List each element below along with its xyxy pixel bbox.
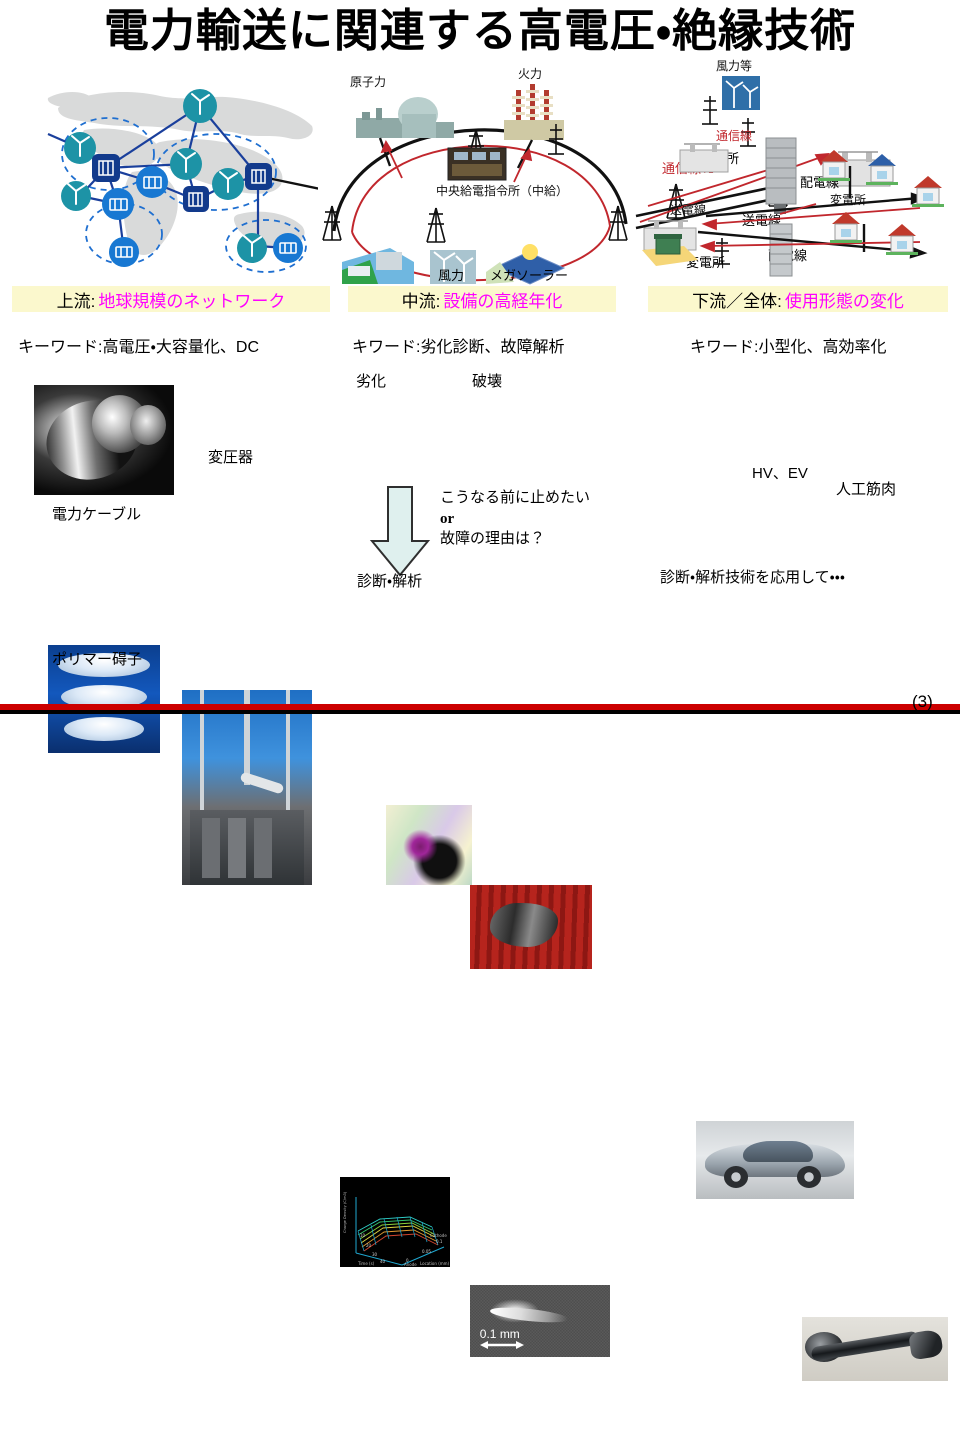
caption-diagnosis-analysis: 診断・解析 (357, 570, 422, 591)
label-mega-solar: メガソーラー (490, 265, 568, 284)
chart-charge-density-3d: 10 20 30 40 0 0.05 0.1 Anode Cathode Tim… (340, 1177, 450, 1267)
label-thermal: 火力 (518, 67, 542, 81)
photo-robotic-arm (802, 1317, 948, 1381)
footer-rule-black (0, 710, 960, 714)
photo-breakdown (470, 885, 592, 969)
label-wind: 風力 (438, 265, 464, 284)
keywords-midstream: キワード:劣化診断、故障解析 (352, 333, 564, 357)
caption-polymer-insulator: ポリマー碍子 (52, 648, 142, 669)
band-accent-downstream: 使用形態の変化 (785, 287, 904, 312)
keywords-upstream: キーワード:高電圧・大容量化、DC (18, 333, 259, 357)
slide-root: 電力輸送に関連する高電圧・絶縁技術 (0, 0, 960, 720)
band-accent-midstream: 設備の高経年化 (443, 287, 562, 312)
caption-degradation: 劣化 (356, 370, 386, 391)
distribution-network (620, 120, 960, 280)
caption-artificial-muscle: 人工筋肉 (836, 478, 896, 499)
keywords-downstream: キワード:小型化、高効率化 (690, 333, 886, 357)
svg-text:20: 20 (366, 1243, 372, 1248)
page-title: 電力輸送に関連する高電圧・絶縁技術 (0, 6, 960, 56)
down-arrow-icon (368, 485, 432, 577)
caption-hv-ev: HV、EV (752, 462, 808, 483)
svg-text:30: 30 (372, 1252, 378, 1257)
section-band-midstream: 中流: 設備の高経年化 (348, 286, 616, 312)
svg-text:0.1: 0.1 (436, 1239, 443, 1244)
band-prefix-downstream: 下流／全体: (692, 287, 782, 312)
photo-hybrid-electric-vehicle (696, 1121, 854, 1199)
photo-transformer (182, 690, 312, 885)
note-line-1: こうなる前に止めたい (440, 488, 590, 509)
band-accent-upstream: 地球規模のネットワーク (98, 287, 285, 312)
caption-transformer: 変圧器 (208, 446, 253, 467)
svg-text:10: 10 (360, 1233, 366, 1238)
svg-text:Charge Density (C/m3): Charge Density (C/m3) (343, 1191, 347, 1233)
svg-text:Cathode: Cathode (430, 1233, 447, 1238)
application-note-downstream: 診断・解析技術を応用して・・・ (660, 566, 845, 587)
page-number: (3) (912, 692, 933, 712)
note-line-2: or (440, 509, 590, 530)
label-wind-etc: 風力等 (716, 59, 752, 73)
svg-text:40: 40 (380, 1259, 386, 1264)
caption-power-cable: 電力ケーブル (52, 503, 141, 524)
photo-degradation (386, 805, 472, 885)
band-prefix-midstream: 中流: (402, 287, 441, 312)
photo-electrical-tree-micrograph: 0.1 mm (470, 1285, 610, 1357)
svg-text:Location (mm): Location (mm) (420, 1261, 450, 1266)
section-band-upstream: 上流: 地球規模のネットワーク (12, 286, 330, 312)
caption-breakdown: 破壊 (472, 370, 502, 391)
section-band-downstream: 下流／全体: 使用形態の変化 (648, 286, 948, 312)
note-line-3: 故障の理由は？ (440, 529, 590, 550)
photo-power-cable (34, 385, 174, 495)
band-prefix-upstream: 上流: (57, 287, 96, 312)
svg-text:Time (s): Time (s) (357, 1261, 375, 1266)
label-control-center: 中央給電指令所（中給） (436, 183, 568, 198)
svg-text:0.05: 0.05 (422, 1249, 431, 1254)
svg-text:Anode: Anode (404, 1262, 417, 1267)
midstream-note: こうなる前に止めたい or 故障の理由は？ (440, 488, 590, 550)
global-supergrid-map (40, 68, 325, 280)
label-nuclear: 原子力 (350, 75, 386, 89)
